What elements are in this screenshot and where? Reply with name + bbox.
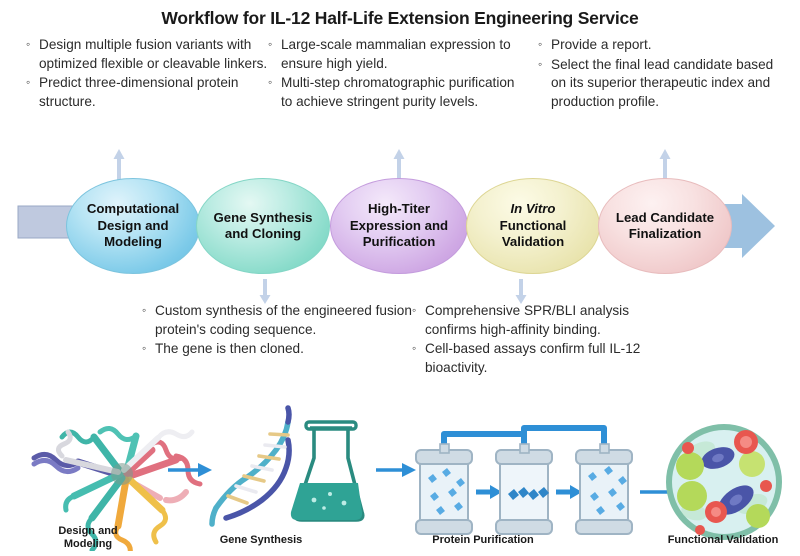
process-node-high-titer-expression[interactable]: High-Titer Expression and Purification — [330, 178, 468, 274]
illustration-label-protein-purification: Protein Purification — [398, 534, 568, 547]
computational-design-bullets: Design multiple fusion variants with opt… — [26, 36, 278, 112]
bullet-item: Cell-based assays confirm full IL-12 bio… — [412, 340, 680, 377]
chromatography-columns-illustration — [416, 428, 632, 534]
node-line: Gene Synthesis — [210, 210, 317, 227]
bullet-item: Design multiple fusion variants with opt… — [26, 36, 278, 73]
process-node-gene-synthesis[interactable]: Gene Synthesis and Cloning — [196, 178, 330, 274]
bullet-item: Multi-step chromatographic purification … — [268, 74, 524, 111]
functional-validation-bullets: Comprehensive SPR/BLI analysis confirms … — [412, 302, 680, 378]
label-line: Design and — [28, 525, 148, 538]
process-chevron-band: Computational Design and Modeling Gene S… — [0, 168, 800, 284]
illustration-label-design-modeling: Design and Modeling — [28, 525, 148, 551]
page-title: Workflow for IL-12 Half-Life Extension E… — [0, 8, 800, 29]
node-line: Expression and — [346, 218, 452, 235]
node-line: Purification — [346, 234, 452, 251]
bullet-item: Large-scale mammalian expression to ensu… — [268, 36, 524, 73]
process-node-in-vitro-validation[interactable]: In Vitro Functional Validation — [466, 178, 600, 274]
illustration-label-functional-validation: Functional Validation — [648, 534, 798, 547]
node-line: Modeling — [83, 234, 183, 251]
node-line: Finalization — [612, 226, 718, 243]
bullet-item: Comprehensive SPR/BLI analysis confirms … — [412, 302, 680, 339]
process-node-lead-candidate[interactable]: Lead Candidate Finalization — [598, 178, 732, 274]
expression-purification-bullets: Large-scale mammalian expression to ensu… — [268, 36, 524, 112]
bullet-item: Predict three-dimensional protein struct… — [26, 74, 278, 111]
node-line: and Cloning — [210, 226, 317, 243]
strip-arrow-2-icon — [376, 463, 416, 477]
node-line: Design and — [83, 218, 183, 235]
bullet-item: Custom synthesis of the engineered fusio… — [142, 302, 414, 339]
node-line: Lead Candidate — [612, 210, 718, 227]
dna-helix-illustration — [212, 408, 289, 524]
flask-illustration — [291, 422, 363, 520]
node-line: Computational — [83, 201, 183, 218]
node-line: High-Titer — [346, 201, 452, 218]
node-line: In Vitro — [496, 201, 571, 218]
bullet-item: The gene is then cloned. — [142, 340, 414, 359]
bullet-item: Select the final lead candidate based on… — [538, 56, 788, 112]
node-line: Validation — [496, 234, 571, 251]
lead-candidate-bullets: Provide a report. Select the final lead … — [538, 36, 788, 112]
node-line: Functional — [496, 218, 571, 235]
label-line: Modeling — [28, 538, 148, 551]
process-node-computational-design[interactable]: Computational Design and Modeling — [66, 178, 200, 274]
bullet-item: Provide a report. — [538, 36, 788, 55]
illustration-label-gene-synthesis: Gene Synthesis — [196, 534, 326, 547]
cell-illustration — [666, 424, 782, 540]
gene-synthesis-bullets: Custom synthesis of the engineered fusio… — [142, 302, 414, 360]
